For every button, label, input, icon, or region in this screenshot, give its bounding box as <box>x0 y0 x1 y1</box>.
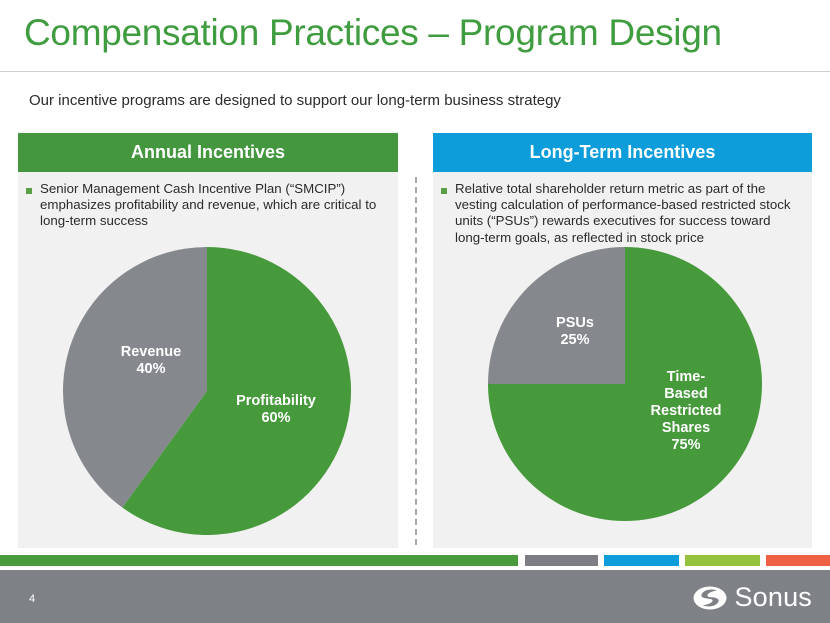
pie-label-psus: PSUs 25% <box>520 315 630 349</box>
brand-name: Sonus <box>734 582 812 613</box>
footer-segment-gray <box>525 555 598 566</box>
bullet-square-icon <box>441 188 447 194</box>
bullet-item: Relative total shareholder return metric… <box>441 181 802 246</box>
pie-label-revenue: Revenue 40% <box>99 344 203 378</box>
panel-lti-header-label: Long-Term Incentives <box>530 142 716 163</box>
pie-label-time-based-restricted-shares: Time- Based Restricted Shares 75% <box>628 369 744 454</box>
pie-chart-long-term-incentives: PSUs 25% Time- Based Restricted Shares 7… <box>488 247 762 521</box>
footer-segment-blue <box>604 555 679 566</box>
bullet-text-annual: Senior Management Cash Incentive Plan (“… <box>40 181 388 230</box>
footer-segment-orange <box>766 555 830 566</box>
pie-chart-annual-incentives: Revenue 40% Profitability 60% <box>63 247 351 535</box>
brand-logo: Sonus <box>693 582 812 613</box>
footer-color-bar <box>0 553 830 568</box>
panel-lti-header: Long-Term Incentives <box>433 133 812 172</box>
pie-chart-annual-svg <box>63 247 351 535</box>
page-number: 4 <box>29 593 35 605</box>
panel-annual-body: Senior Management Cash Incentive Plan (“… <box>18 172 398 230</box>
panel-divider <box>415 177 417 545</box>
panel-lti-body: Relative total shareholder return metric… <box>433 172 812 246</box>
slide-subtitle: Our incentive programs are designed to s… <box>29 92 561 109</box>
bullet-item: Senior Management Cash Incentive Plan (“… <box>26 181 388 230</box>
title-divider <box>0 71 830 72</box>
footer-segment-lime <box>685 555 760 566</box>
panel-annual-header: Annual Incentives <box>18 133 398 172</box>
page-title: Compensation Practices – Program Design <box>24 12 722 54</box>
footer-segment-green <box>0 555 518 566</box>
pie-label-profitability: Profitability 60% <box>211 393 341 427</box>
bullet-square-icon <box>26 188 32 194</box>
sonus-swoosh-logo-icon <box>693 585 727 611</box>
panel-annual-header-label: Annual Incentives <box>131 142 285 163</box>
bullet-text-lti: Relative total shareholder return metric… <box>455 181 802 246</box>
